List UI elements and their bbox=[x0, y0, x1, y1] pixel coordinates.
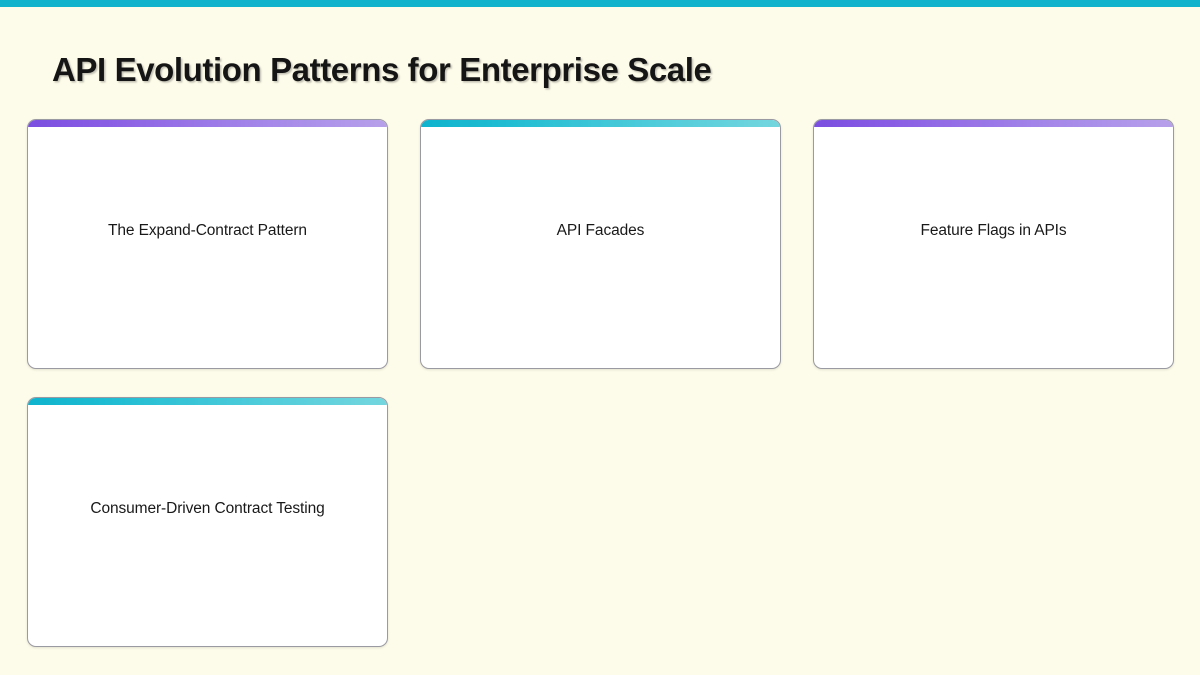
card-body: API Facades bbox=[421, 127, 780, 368]
top-accent-bar bbox=[0, 0, 1200, 7]
card-grid: The Expand-Contract Pattern API Facades … bbox=[27, 119, 1173, 647]
card-item[interactable]: Feature Flags in APIs bbox=[813, 119, 1174, 369]
card-item[interactable]: Consumer-Driven Contract Testing bbox=[27, 397, 388, 647]
card-accent-bar bbox=[28, 120, 387, 127]
page-title: API Evolution Patterns for Enterprise Sc… bbox=[52, 51, 1152, 89]
card-body: Feature Flags in APIs bbox=[814, 127, 1173, 368]
slide-canvas: API Evolution Patterns for Enterprise Sc… bbox=[0, 0, 1200, 675]
card-accent-bar bbox=[814, 120, 1173, 127]
card-accent-bar bbox=[28, 398, 387, 405]
card-item[interactable]: The Expand-Contract Pattern bbox=[27, 119, 388, 369]
card-title: API Facades bbox=[557, 221, 645, 241]
card-title: The Expand-Contract Pattern bbox=[108, 221, 307, 241]
card-title: Feature Flags in APIs bbox=[920, 221, 1066, 241]
card-title: Consumer-Driven Contract Testing bbox=[90, 499, 324, 519]
card-body: Consumer-Driven Contract Testing bbox=[28, 405, 387, 646]
card-accent-bar bbox=[421, 120, 780, 127]
card-body: The Expand-Contract Pattern bbox=[28, 127, 387, 368]
card-item[interactable]: API Facades bbox=[420, 119, 781, 369]
